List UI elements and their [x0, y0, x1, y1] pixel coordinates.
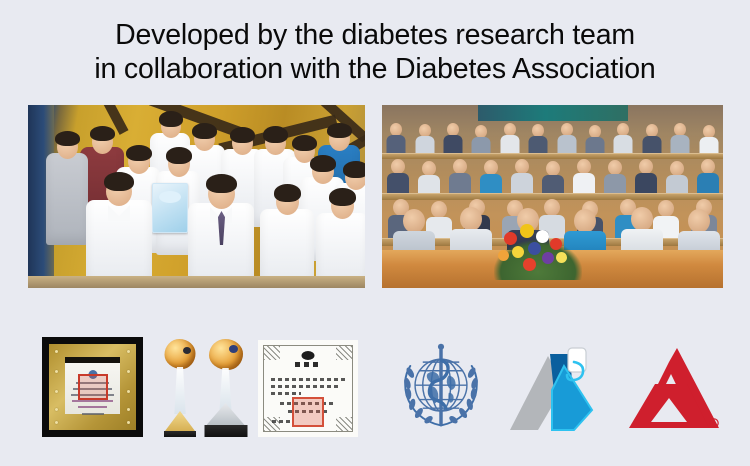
team-photo-scene [28, 105, 365, 288]
plaque-gold-plate [49, 344, 136, 430]
who-logo [393, 341, 489, 437]
registered-trademark-mark: ® [712, 421, 716, 428]
certificate-emblem [302, 351, 315, 360]
trophy-plinth [204, 425, 247, 437]
trophy-stem [171, 367, 190, 414]
trophy-bowl [209, 339, 243, 370]
award-certificate [258, 340, 358, 437]
crystal-trophy-right [203, 337, 248, 437]
trophy-base [207, 403, 245, 425]
title-line-2: in collaboration with the Diabetes Assoc… [0, 52, 750, 86]
diabetes-association-logo [508, 346, 612, 432]
audience-row [382, 121, 723, 155]
certificate-red-seal [292, 397, 324, 427]
conference-scene [382, 105, 723, 288]
award-plaque-held [152, 183, 188, 233]
certificate-heading [295, 362, 321, 367]
crystal-trophy-left [163, 337, 197, 437]
plaque-red-stamp [78, 374, 108, 400]
flower-bouquet [490, 218, 586, 280]
trophy-accent [183, 347, 191, 354]
certificate-corner-ornament [336, 346, 352, 360]
trophy-plinth [164, 431, 196, 437]
audience-row [382, 157, 723, 195]
slide-root: Developed by the diabetes research team … [0, 0, 750, 466]
certificate-corner-ornament [336, 417, 352, 431]
page-title: Developed by the diabetes research team … [0, 18, 750, 86]
stage-screen [478, 105, 628, 121]
trophy-base [165, 411, 195, 431]
certificate-corner-ornament [264, 346, 280, 360]
diabetes-association-mark-icon [508, 346, 612, 432]
diabetes-research-team-photo [28, 105, 365, 288]
title-line-1: Developed by the diabetes research team [0, 18, 750, 52]
plaque-certificate [65, 357, 120, 414]
ada-triangle-icon: ® [625, 344, 721, 436]
american-diabetes-association-logo: ® [625, 344, 721, 436]
framed-gold-plaque [42, 337, 143, 437]
diabetes-association-conference-photo [382, 105, 723, 288]
who-emblem-icon [393, 341, 489, 437]
photo-floor [28, 276, 365, 288]
trophy-accent [229, 345, 238, 353]
trophy-bowl [165, 339, 196, 369]
